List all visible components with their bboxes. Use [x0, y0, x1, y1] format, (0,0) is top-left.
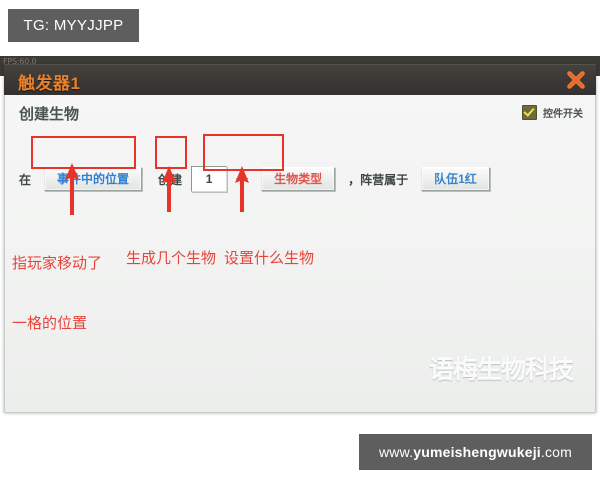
url-domain: yumeishengwukeji — [413, 444, 541, 460]
count-annotation-label: 生成几个生物 — [126, 208, 216, 288]
watermark: 语梅生物科技 — [429, 350, 573, 386]
location-annotation-label: 指玩家移动了 一格的位置 — [12, 213, 102, 353]
creature-type-button[interactable]: 生物类型 — [261, 167, 335, 191]
type-annotation-line1: 设置什么生物 — [224, 248, 314, 268]
url-prefix: www. — [379, 444, 413, 460]
control-toggle-label: 控件开关 — [543, 105, 583, 120]
location-field-button[interactable]: 事件中的位置 — [44, 167, 142, 191]
statement-unit: 个 — [236, 171, 248, 188]
count-input[interactable] — [191, 166, 227, 192]
close-icon[interactable] — [565, 69, 587, 91]
tg-banner: TG: MYYJJPP — [8, 9, 139, 42]
statement-verb: 创建 — [158, 171, 182, 188]
url-banner: www.yumeishengwukeji.com — [359, 434, 592, 470]
statement-separator: ，阵营属于 — [348, 171, 408, 188]
team-field-button[interactable]: 队伍1红 — [421, 167, 490, 191]
location-annotation-line2: 一格的位置 — [12, 313, 102, 333]
control-toggle[interactable]: 控件开关 — [522, 105, 583, 120]
type-annotation-label: 设置什么生物 — [224, 208, 314, 288]
statement-row: 在 事件中的位置 创建 个 生物类型 ，阵营属于 队伍1红 — [19, 165, 490, 193]
statement-prefix: 在 — [19, 171, 31, 188]
count-annotation-line1: 生成几个生物 — [126, 248, 216, 268]
url-suffix: .com — [541, 444, 572, 460]
dialog-title: 触发器1 — [18, 69, 80, 94]
section-title: 创建生物 — [19, 103, 79, 124]
dialog-titlebar: 触发器1 — [4, 64, 596, 95]
checkbox-checked-icon[interactable] — [522, 105, 537, 120]
location-annotation-line1: 指玩家移动了 — [12, 253, 102, 273]
